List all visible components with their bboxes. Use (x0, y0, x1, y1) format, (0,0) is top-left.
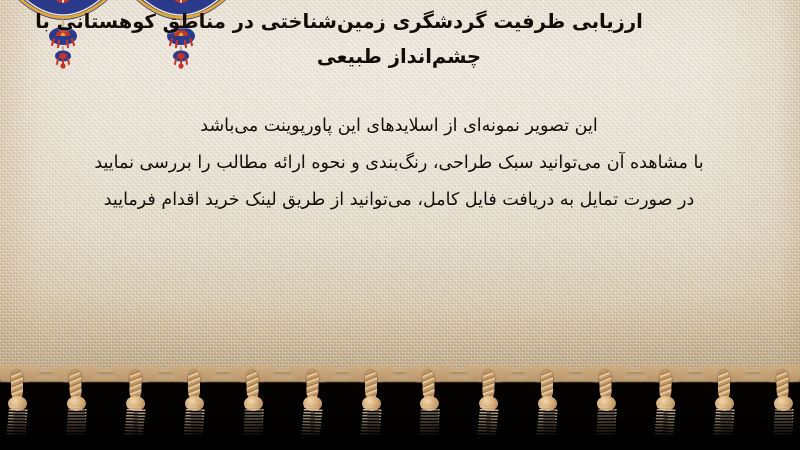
fringe-tassel (296, 374, 328, 441)
fringe-threads (654, 406, 676, 438)
fringe-threads (360, 406, 382, 438)
fringe-tassel (356, 374, 386, 440)
fringe-threads (477, 406, 499, 438)
fringe-tassel (649, 374, 681, 441)
fringe-tassel (590, 374, 622, 441)
fringe-threads (6, 406, 28, 438)
fringe-threads (300, 406, 322, 438)
slide-body-text: این تصویر نمونه‌ای از اسلایدهای این پاور… (8, 108, 790, 219)
fringe-tassel (767, 374, 799, 441)
fringe-tassel (179, 374, 209, 440)
fringe-threads (713, 406, 735, 438)
fringe-threads (183, 406, 205, 438)
fringe-tassel (414, 374, 446, 441)
fringe-threads (596, 406, 617, 437)
slide-canvas: ارزیابی ظرفیت گردشگری زمین‌شناختی در منا… (0, 0, 800, 450)
fringe-threads (537, 406, 559, 438)
fringe-threads (124, 406, 146, 438)
fringe-tassel (2, 374, 32, 440)
slide-title-line-1: ارزیابی ظرفیت گردشگری زمین‌شناختی در منا… (16, 4, 782, 39)
slide-body-line-2: با مشاهده آن می‌توانید سبک طراحی، رنگ‌بن… (8, 145, 790, 182)
fringe-threads (420, 406, 441, 437)
fringe-threads (243, 406, 264, 437)
fringe-tassel (119, 374, 151, 441)
fringe-tassel (237, 374, 269, 441)
fringe-threads (66, 406, 87, 437)
slide-body-line-1: این تصویر نمونه‌ای از اسلایدهای این پاور… (8, 108, 790, 145)
slide-title-line-2: چشم‌انداز طبیعی (16, 39, 782, 74)
fringe-tassel (473, 374, 505, 441)
fringe-tassel (709, 374, 739, 440)
fringe-tassel (60, 374, 92, 441)
slide-body-line-3: در صورت تمایل به دریافت فایل کامل، می‌تو… (8, 182, 790, 219)
carpet-fringe-tassels (0, 374, 800, 444)
slide-title: ارزیابی ظرفیت گردشگری زمین‌شناختی در منا… (16, 4, 782, 74)
fringe-threads (773, 406, 794, 437)
fringe-tassel (532, 374, 562, 440)
